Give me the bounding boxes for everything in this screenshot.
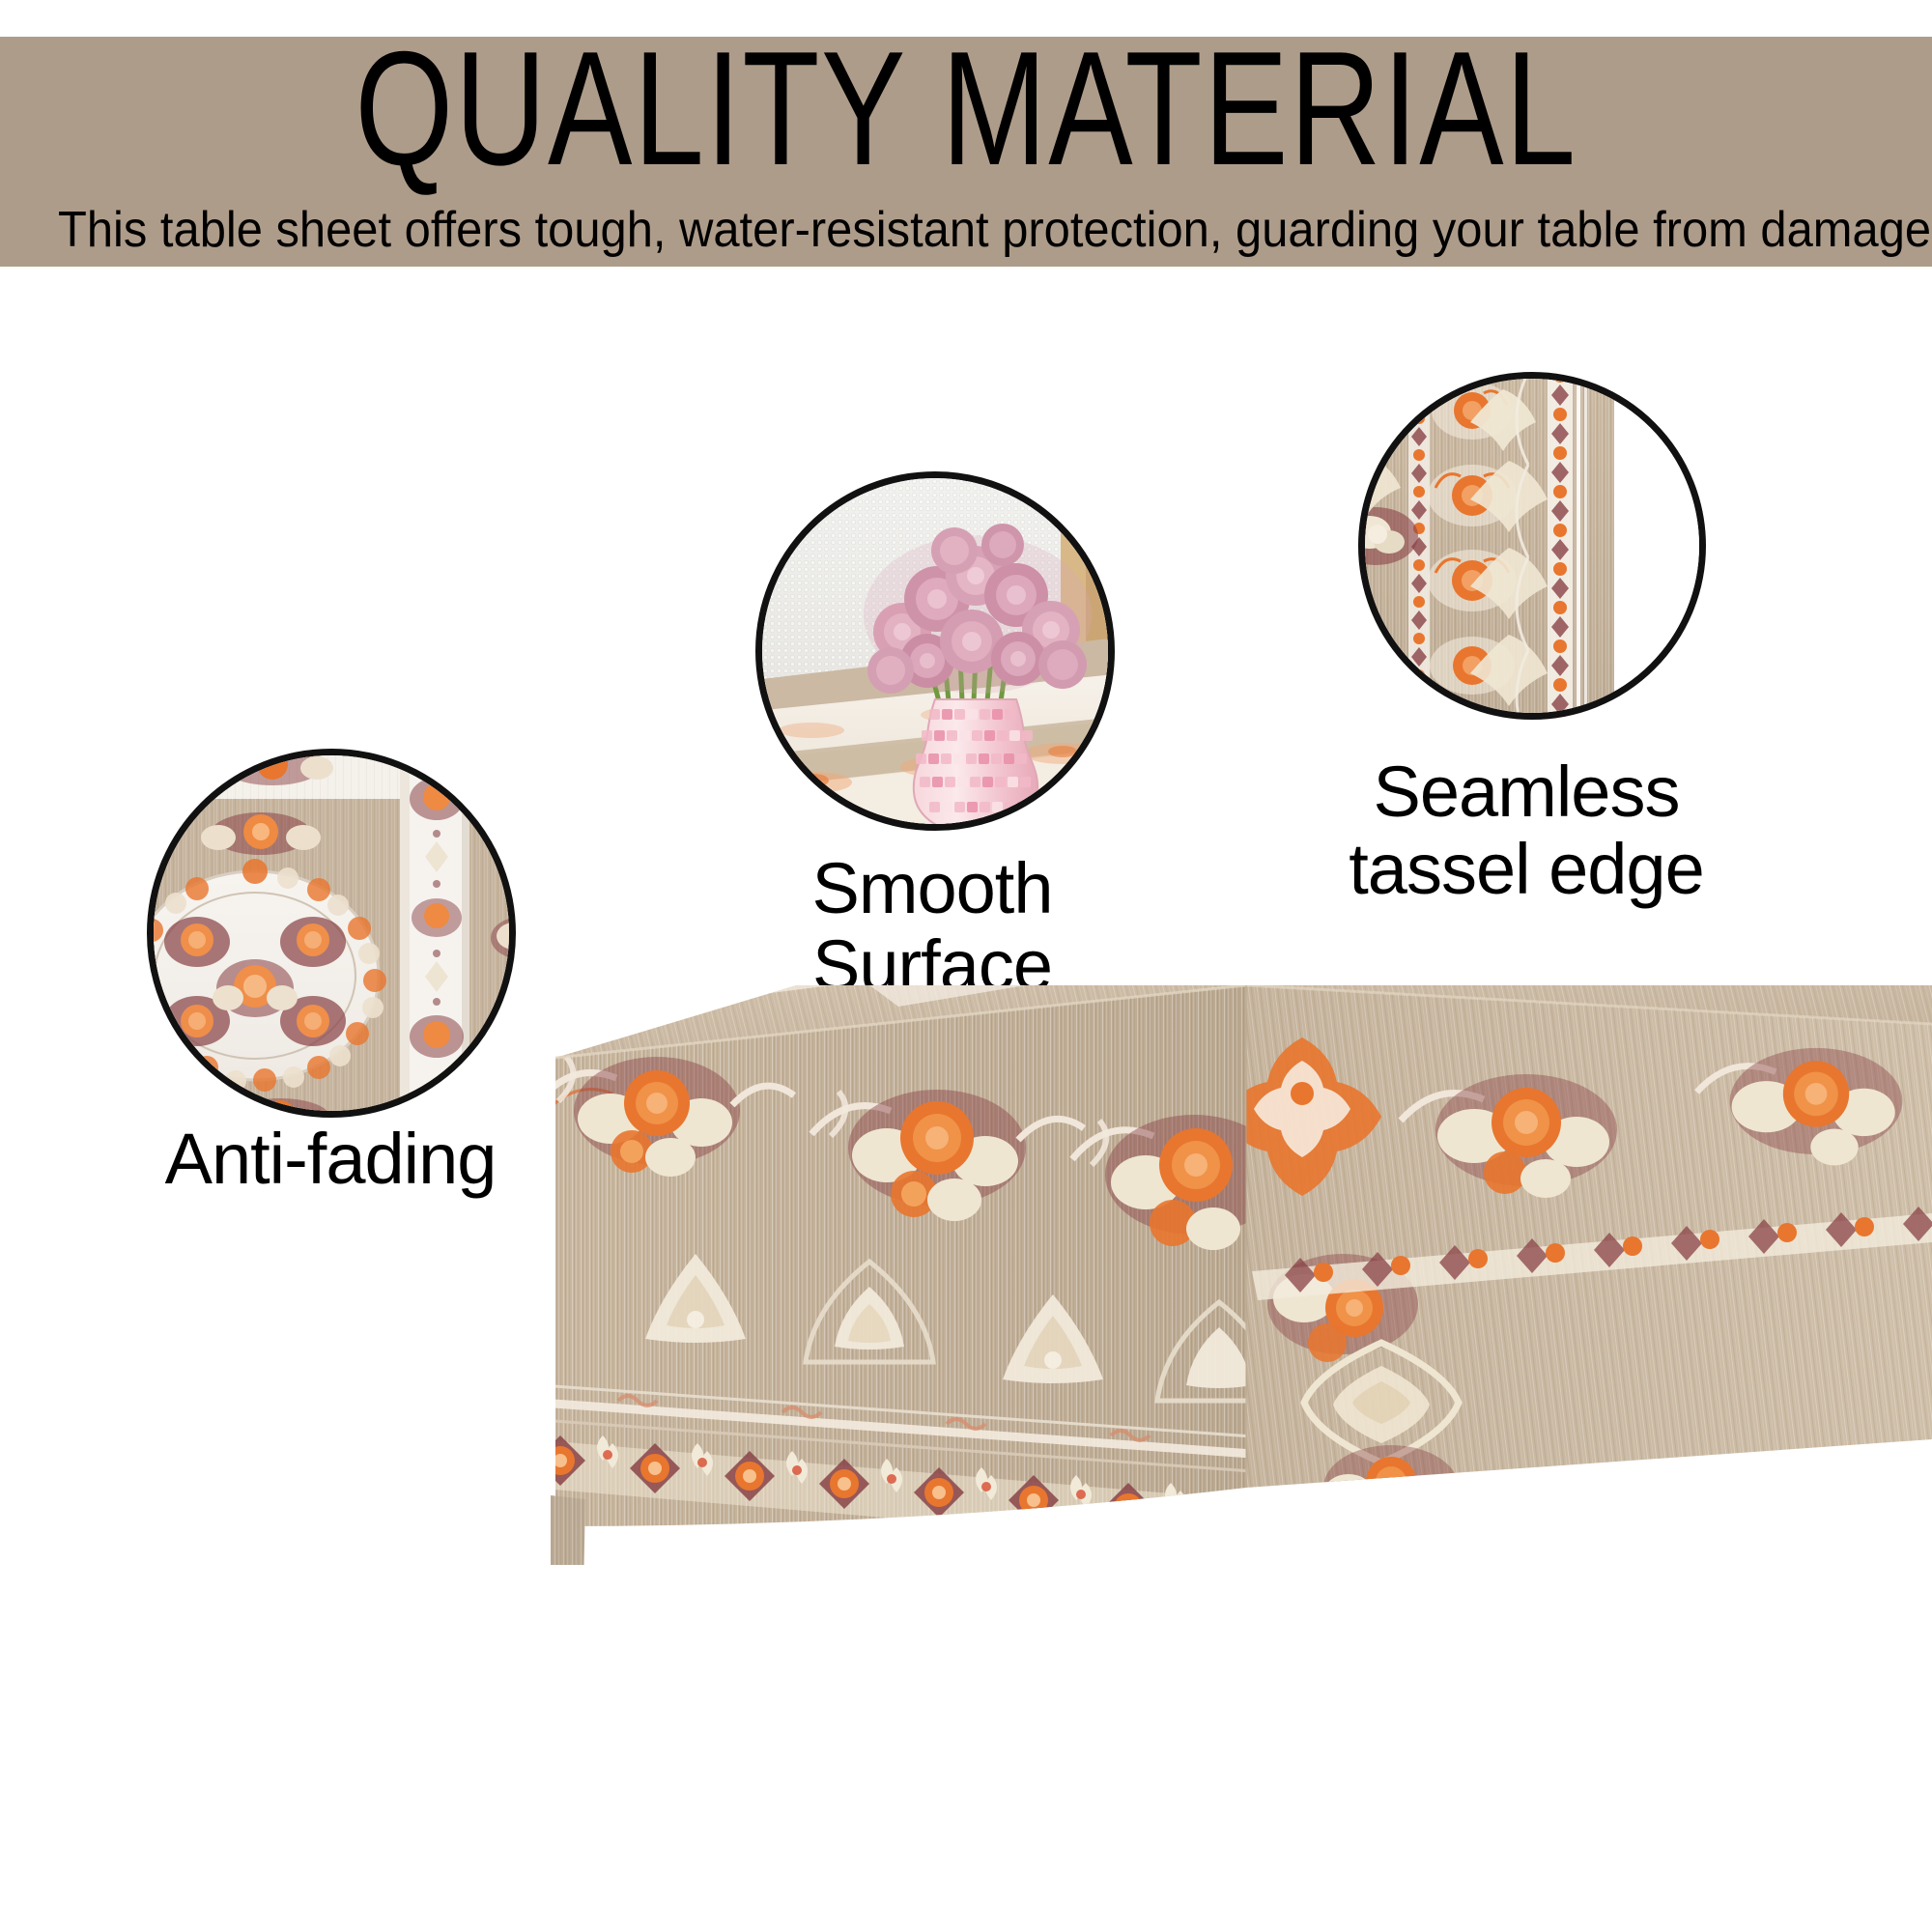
corner-flap (551, 1495, 585, 1565)
tablecloth-right-face (1223, 985, 1932, 1530)
header-banner: QUALITY MATERIAL This table sheet offers… (0, 37, 1932, 267)
circle-zoom-edge-icon (1358, 372, 1706, 720)
page-subtitle: This table sheet offers tough, water-res… (58, 201, 1874, 259)
tablecloth-front-face (512, 985, 1285, 1565)
tablecloth-illustration (415, 985, 1932, 1565)
callout-label-seamless-tassel-edge: Seamless tassel edge (1236, 753, 1816, 908)
circle-zoom-photo-icon (755, 471, 1115, 831)
callout-label-smooth-surface: Smooth Surface (633, 850, 1232, 1005)
page-title: QUALITY MATERIAL (213, 37, 1719, 193)
product-hero-image (415, 985, 1932, 1565)
